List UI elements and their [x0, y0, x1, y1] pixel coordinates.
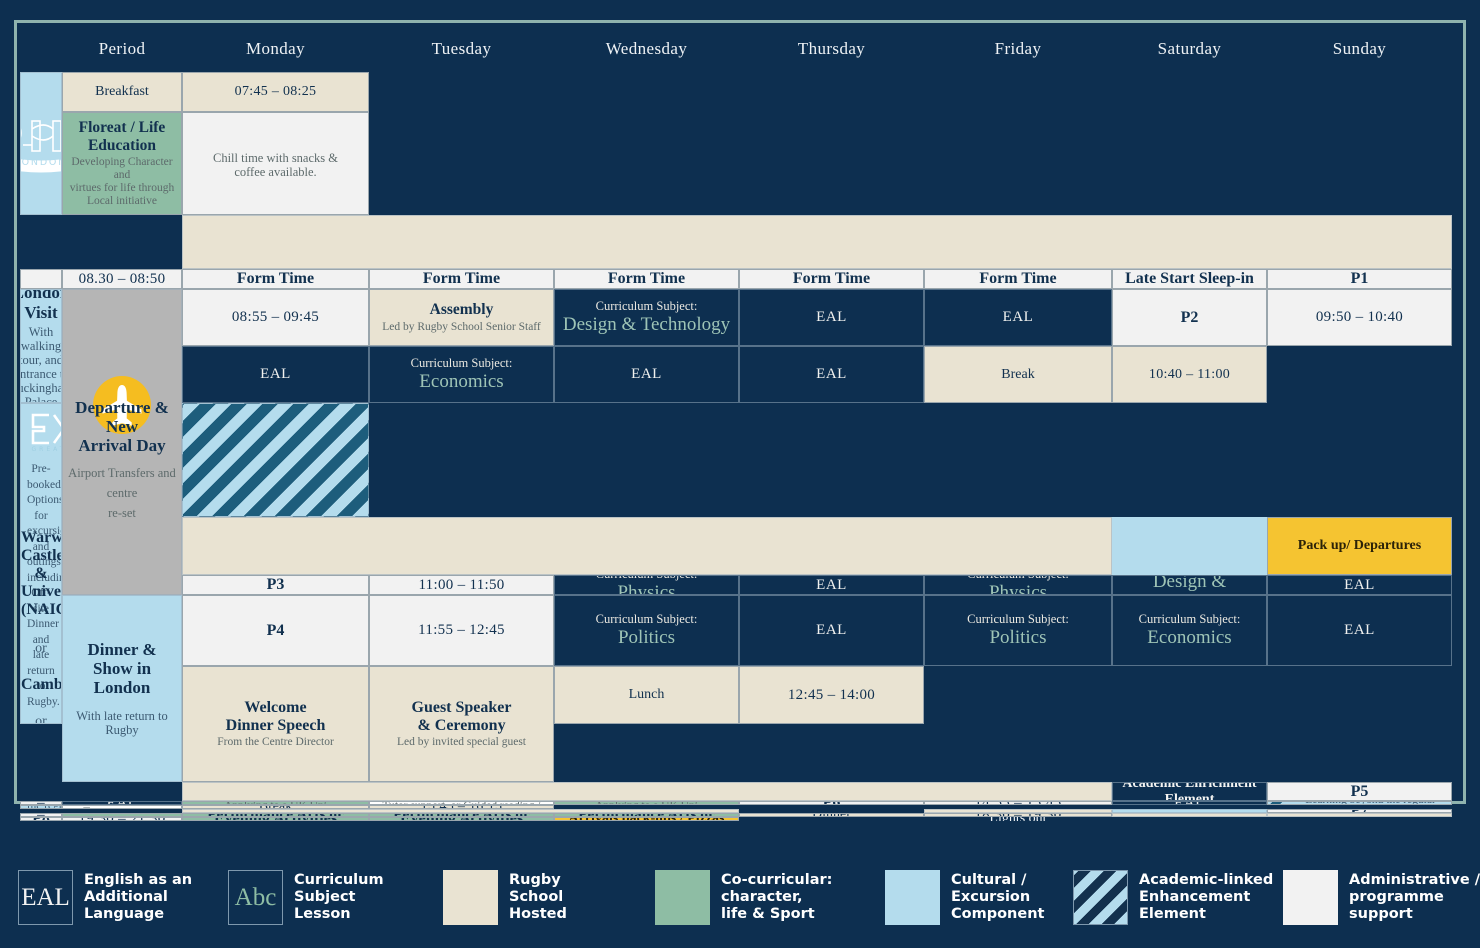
cell-title: EAL [1003, 309, 1034, 326]
cell-title: EAL [816, 622, 847, 639]
curriculum-prefix: Curriculum Subject: [967, 575, 1069, 581]
tue-p6-academic-enrichment[interactable]: Academic Enrichment Learning beyond the … [1267, 801, 1452, 805]
legend: EALEnglish as an Additional LanguageAbcC… [0, 848, 1480, 948]
cell-subtitle: Tutor support, or Guided reading / readi… [66, 806, 178, 809]
cell-title: EAL [1344, 577, 1375, 594]
fri-p6-private-study[interactable]: Private Study / Tutor Tutor support, or … [62, 805, 182, 809]
subject-name: Economics [1147, 627, 1231, 648]
subject-name: Physics [989, 582, 1047, 595]
sun-late-start[interactable]: Late Start Sleep-in [1112, 269, 1267, 289]
stripe-marker [1268, 802, 1290, 804]
thu-p3-subject[interactable]: Curriculum Subject: Design & Technology [1112, 575, 1267, 595]
wed-p3-subject[interactable]: Curriculum Subject: Physics [924, 575, 1112, 595]
cell-title: EAL [631, 366, 662, 383]
cell-title: EAL [816, 366, 847, 383]
legend-label: Co-curricular: character, life & Sport [721, 872, 832, 923]
green-swatch [655, 870, 710, 925]
cell-title: EAL [816, 577, 847, 594]
legend-item-2: Rugby School Hosted [443, 870, 567, 925]
sat-academic-element[interactable]: Academic Enrichment Element [1112, 782, 1267, 801]
row-label-p6: P6 [739, 801, 924, 805]
cell-subtitle: Learning beyond the regular curriculum w… [1300, 801, 1442, 805]
or-label-1: or [21, 641, 61, 657]
curriculum-prefix: Curriculum Subject: [1139, 612, 1241, 626]
cell-title: Guest Speaker & Ceremony [412, 699, 512, 735]
cell-subtitle: From the Centre Director [217, 736, 334, 749]
row-label-p5: P5 [1267, 782, 1452, 801]
fri-floreat[interactable]: Floreat / Life Education Developing Char… [62, 112, 182, 215]
or-label-2: or [21, 714, 61, 724]
thu-p1-eal[interactable]: EAL [924, 289, 1112, 346]
legend-item-5: Academic-linked Enhancement Element [1073, 870, 1273, 925]
subject-name: Design & Technology [563, 314, 730, 335]
subject-name: Politics [989, 627, 1046, 648]
thu-formtime[interactable]: Form Time [739, 269, 924, 289]
mon-p6-eal[interactable]: EAL [1112, 801, 1267, 805]
thu-p6-academic-enrichment[interactable]: Academic Enrichment Learning beyond the … [20, 805, 62, 809]
mon-p1-assembly[interactable]: Assembly Led by Rugby School Senior Staf… [369, 289, 554, 346]
cell-title: Form Time [237, 270, 314, 288]
tue-p2-subject[interactable]: Curriculum Subject: Economics [369, 346, 554, 403]
timetable-frame: Period Monday Tuesday Wednesday Thursday… [14, 20, 1466, 804]
break1-band [182, 517, 1112, 575]
mon-p4-subject[interactable]: Curriculum Subject: Politics [554, 595, 739, 666]
row-label-lunch: Lunch [554, 666, 739, 724]
sat-dinner-show[interactable]: Dinner & Show in London With late return… [62, 595, 182, 782]
row-time-lunch: 12:45 – 14:00 [739, 666, 924, 724]
row-label-p3: P3 [182, 575, 369, 595]
header-friday: Friday [924, 26, 1112, 72]
curriculum-prefix: Curriculum Subject: [596, 575, 698, 581]
cell-title: EAL [816, 309, 847, 326]
cell-subtitle: With walking tour, and Entrance to Bucki… [20, 325, 62, 403]
london-landmark-icon: LONDON [20, 107, 62, 181]
row-label-break1: Break [924, 346, 1112, 403]
legend-item-6: Administrative / programme support [1283, 870, 1480, 925]
tue-p4-eal[interactable]: EAL [739, 595, 924, 666]
cell-title: EAL [1174, 801, 1205, 805]
curriculum-prefix: Curriculum Subject: [596, 612, 698, 626]
tue-formtime[interactable]: Form Time [369, 269, 554, 289]
header-sunday: Sunday [1267, 26, 1452, 72]
header-period: Period [62, 26, 182, 72]
cell-subtitle: Airport Transfers and centre re-set [63, 463, 181, 523]
cell-title: Assembly [430, 301, 494, 318]
wed-p2-eal[interactable]: EAL [554, 346, 739, 403]
row-time-p2: 09:50 – 10:40 [1267, 289, 1452, 346]
cell-subtitle: Learning beyond the regular curriculum w… [20, 805, 62, 809]
stripes-swatch [1073, 870, 1128, 925]
row-time-p4: 11:55 – 12:45 [369, 595, 554, 666]
legend-label: Administrative / programme support [1349, 872, 1480, 923]
cell-title: Form Time [423, 270, 500, 288]
great-britain-logo-icon: GREAT [21, 409, 62, 453]
cell-title: Departure & New Arrival Day [63, 398, 181, 455]
cell-title: EAL [1344, 622, 1375, 639]
fri-formtime[interactable]: Form Time [924, 269, 1112, 289]
row-time-break1: 10:40 – 11:00 [1112, 346, 1267, 403]
subject-name: Politics [618, 627, 675, 648]
header-wednesday: Wednesday [554, 26, 739, 72]
legend-label: Cultural / Excursion Component [951, 872, 1044, 923]
thu-p4-subject[interactable]: Curriculum Subject: Economics [1112, 595, 1267, 666]
mon-p2-eal[interactable]: EAL [182, 346, 369, 403]
breakfast-band [182, 215, 1452, 269]
row-label-p8: P8 [20, 817, 62, 821]
thu-dinner [1267, 813, 1452, 817]
fri-p5-futures[interactable]: Futures Advisory Applying to a UK Uni or… [554, 801, 739, 805]
fri-guest-speaker[interactable]: Guest Speaker & Ceremony Led by invited … [369, 666, 554, 782]
legend-label: English as an Additional Language [84, 872, 192, 923]
svg-text:GREAT: GREAT [32, 446, 62, 453]
wed-p1-eal[interactable]: EAL [739, 289, 924, 346]
legend-label: Academic-linked Enhancement Element [1139, 872, 1273, 923]
sun-chill-time[interactable]: Chill time with snacks & coffee availabl… [182, 112, 369, 215]
cell-title: EAL [260, 366, 291, 383]
eal-icon: EAL [18, 870, 73, 925]
legend-glyph: Abc [235, 884, 277, 912]
header-thursday: Thursday [739, 26, 924, 72]
fri-p4-eal[interactable]: EAL [1267, 595, 1452, 666]
blue-swatch [885, 870, 940, 925]
row-time-p3: 11:00 – 11:50 [369, 575, 554, 595]
curriculum-prefix: Curriculum Subject: [967, 612, 1069, 626]
wed-formtime[interactable]: Form Time [554, 269, 739, 289]
cell-title: Pack up/ Departures [1298, 538, 1421, 554]
header-saturday: Saturday [1112, 26, 1267, 72]
subject-name: Economics [419, 371, 503, 392]
cream-swatch [443, 870, 498, 925]
wed-p4-subject[interactable]: Curriculum Subject: Politics [924, 595, 1112, 666]
sat-break1 [1112, 517, 1267, 575]
subject-name: Design & Technology [1116, 575, 1263, 595]
timetable-grid: Period Monday Tuesday Wednesday Thursday… [20, 26, 1460, 798]
row-time-p6: 14:55 – 15:45 [924, 801, 1112, 805]
curriculum-prefix: Curriculum Subject: [411, 356, 513, 370]
legend-glyph: EAL [21, 884, 70, 912]
mon-formtime[interactable]: Form Time [182, 269, 369, 289]
cell-subtitle: Led by Rugby School Senior Staff [382, 321, 541, 334]
row-label-p4: P4 [182, 595, 369, 666]
london-logo-text: LONDON [20, 157, 62, 168]
row-time-breakfast: 07:45 – 08:25 [182, 72, 369, 112]
row-label-p1: P1 [1267, 269, 1452, 289]
header-monday: Monday [182, 26, 369, 72]
sun-packup[interactable]: Pack up/ Departures [1267, 517, 1452, 575]
cell-title: Form Time [793, 270, 870, 288]
cell-title: Floreat / Life Education [66, 119, 178, 154]
legend-item-1: AbcCurriculum Subject Lesson [228, 870, 384, 925]
wed-excursion-block[interactable]: GREAT Pre-booked Options for excursions … [20, 403, 62, 724]
row-time-p1: 08:55 – 09:45 [182, 289, 369, 346]
lightsout-band [182, 821, 1452, 823]
abc-icon: Abc [228, 870, 283, 925]
cell-title: Form Time [979, 270, 1056, 288]
sun-departure-day[interactable]: Departure & New Arrival Day Airport Tran… [62, 289, 182, 595]
row-time-p8: 19:30 – 21:30 [62, 817, 182, 821]
mon-welcome-dinner[interactable]: Welcome Dinner Speech From the Centre Di… [182, 666, 369, 782]
cell-title: Dinner & Show in London [66, 640, 178, 697]
mon-p3-subject[interactable]: Curriculum Subject: Physics [554, 575, 739, 595]
tue-dinner [1112, 813, 1267, 817]
legend-item-0: EALEnglish as an Additional Language [18, 870, 192, 925]
header-corner [20, 26, 62, 72]
tue-p1-subject[interactable]: Curriculum Subject: Design & Technology [554, 289, 739, 346]
cell-title: London Visit [20, 289, 62, 322]
white-swatch [1283, 870, 1338, 925]
cell-subtitle: Chill time with snacks & coffee availabl… [213, 151, 338, 179]
cell-subtitle: With late return to Rugby [66, 709, 178, 737]
sat-stripes-block [182, 403, 369, 517]
cell-subtitle: Developing Character and virtues for lif… [66, 156, 178, 208]
cell-title: Late Start Sleep-in [1125, 270, 1254, 288]
cell-subtitle: Applying to a UK Uni or subject choices. [595, 801, 698, 805]
legend-item-4: Cultural / Excursion Component [885, 870, 1044, 925]
row-label-p2: P2 [1112, 289, 1267, 346]
row-label-breakfast: Breakfast [62, 72, 182, 112]
thu-p2-eal[interactable]: EAL [739, 346, 924, 403]
sat-london-logo-cell[interactable]: LONDON [20, 72, 62, 215]
curriculum-prefix: Curriculum Subject: [596, 299, 698, 313]
cell-title: Academic Enrichment Element [1122, 782, 1256, 801]
cell-title: Form Time [608, 270, 685, 288]
row-time-formtime: 08.30 – 08:50 [62, 269, 182, 289]
legend-label: Curriculum Subject Lesson [294, 872, 384, 923]
tue-p3-eal[interactable]: EAL [739, 575, 924, 595]
row-label-formtime [20, 269, 62, 289]
excursion-option-1: Warwick Castle & University (NAIC) [21, 529, 61, 619]
legend-item-3: Co-curricular: character, life & Sport [655, 870, 832, 925]
excursion-option-2: Cambridge [21, 676, 61, 694]
legend-label: Rugby School Hosted [509, 872, 567, 923]
subject-name: Physics [617, 582, 675, 595]
lunch-band [182, 782, 1112, 801]
header-tuesday: Tuesday [369, 26, 554, 72]
cell-title: Welcome Dinner Speech [226, 699, 326, 735]
sat-london-visit[interactable]: London Visit With walking tour, and Entr… [20, 289, 62, 403]
fri-p3-eal[interactable]: EAL [1267, 575, 1452, 595]
cell-subtitle: Led by invited special guest [397, 736, 526, 749]
